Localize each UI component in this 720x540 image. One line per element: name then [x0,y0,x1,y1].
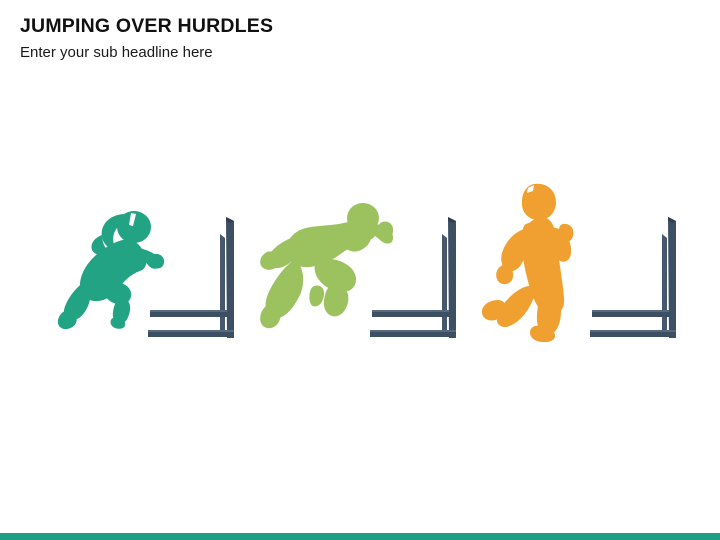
runner-hurdle-group-1 [30,160,270,380]
hurdle-1-icon [148,216,243,341]
runner-hurdle-group-3 [472,160,712,380]
hurdle-3-icon [590,216,685,341]
slide-header: JUMPING OVER HURDLES Enter your sub head… [20,14,680,63]
runner-hurdle-group-2 [250,160,490,380]
slide-subtitle: Enter your sub headline here [20,43,680,63]
page-title: JUMPING OVER HURDLES [20,14,680,38]
male-runner-orange-icon [480,182,595,342]
illustration-area [0,160,720,380]
hurdle-2-icon [370,216,465,341]
slide-canvas: JUMPING OVER HURDLES Enter your sub head… [0,0,720,540]
footer-accent-bar [0,533,720,540]
